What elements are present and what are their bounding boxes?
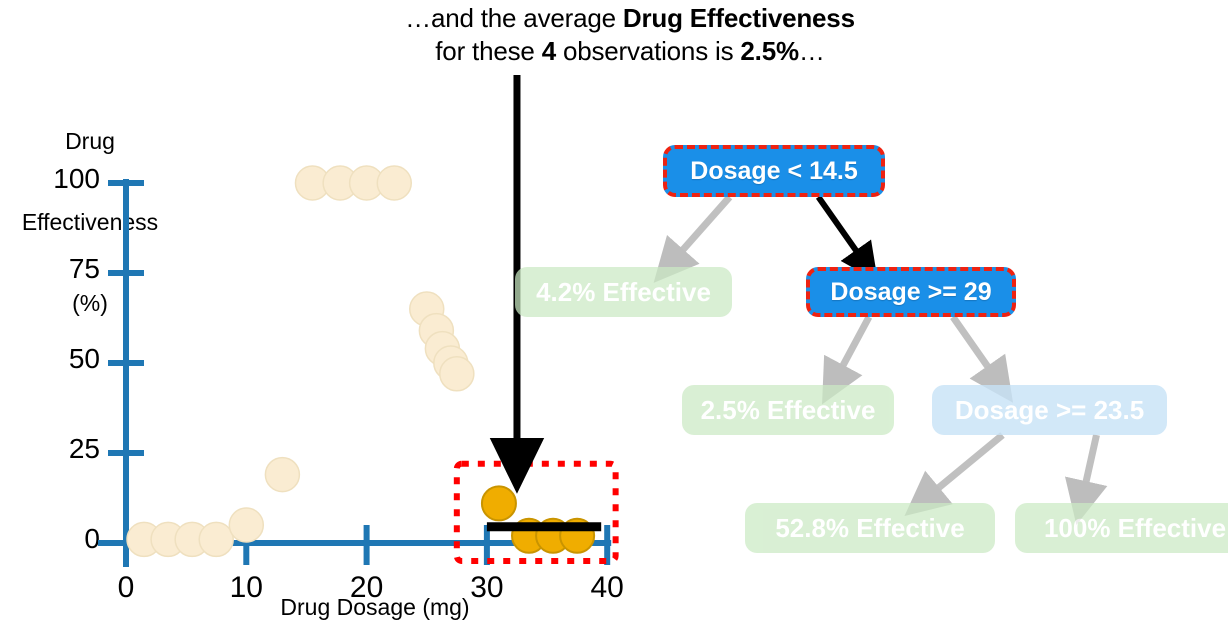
data-point bbox=[265, 458, 299, 492]
scatter-plot: Drug Effectiveness (%) Drug Dosage (mg) … bbox=[0, 60, 640, 639]
tree-edge bbox=[953, 317, 998, 381]
tree-node-split-23-5[interactable]: Dosage >= 23.5 bbox=[932, 385, 1167, 435]
data-point bbox=[229, 508, 263, 542]
tree-node-leaf-4-2[interactable]: 4.2% Effective bbox=[515, 267, 732, 317]
tree-node-root[interactable]: Dosage < 14.5 bbox=[663, 145, 885, 197]
plot-highlight-overlay bbox=[457, 75, 616, 561]
data-point bbox=[440, 357, 474, 391]
tree-edge bbox=[925, 435, 1003, 499]
tree-edge bbox=[835, 317, 869, 381]
tree-node-leaf-100[interactable]: 100% Effective bbox=[1015, 503, 1228, 553]
tree-edge bbox=[818, 197, 864, 263]
slide-canvas: …and the average Drug Effectiveness for … bbox=[0, 0, 1228, 639]
decision-tree: Dosage < 14.5 4.2% Effective Dosage >= 2… bbox=[640, 0, 1228, 639]
tree-edge bbox=[1082, 435, 1096, 499]
data-point bbox=[377, 166, 411, 200]
tree-edge bbox=[671, 197, 729, 263]
tree-node-leaf-52-8[interactable]: 52.8% Effective bbox=[745, 503, 995, 553]
plot-data-points bbox=[127, 166, 594, 556]
data-point bbox=[482, 486, 516, 520]
data-point bbox=[199, 522, 233, 556]
tree-node-split-29[interactable]: Dosage >= 29 bbox=[806, 267, 1016, 317]
tree-node-leaf-2-5[interactable]: 2.5% Effective bbox=[682, 385, 894, 435]
plot-axes bbox=[98, 179, 611, 567]
caption-line1-prefix: …and the average bbox=[405, 3, 623, 33]
plot-graphics bbox=[0, 60, 640, 639]
